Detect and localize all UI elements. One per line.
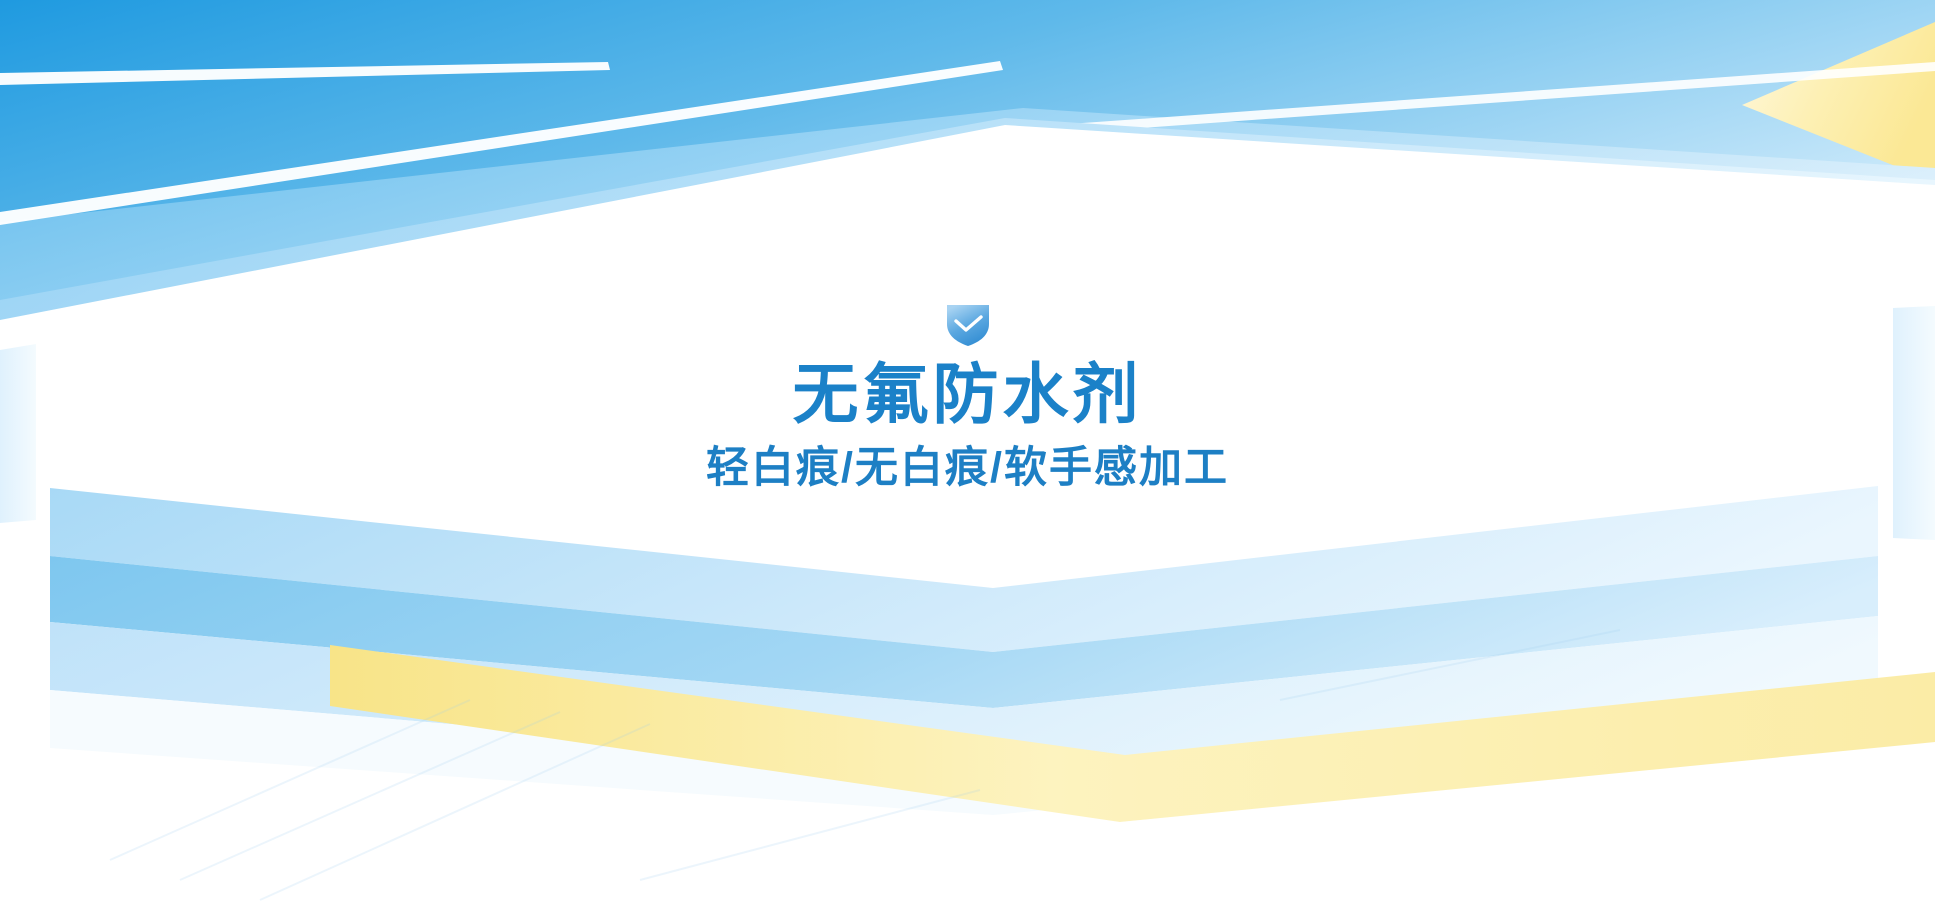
shield-check-icon bbox=[944, 302, 992, 348]
shape-right-pale-strip bbox=[1893, 306, 1935, 540]
shield-body bbox=[947, 305, 989, 346]
page-subtitle: 轻白痕/无白痕/软手感加工 bbox=[706, 444, 1229, 492]
shape-left-pale-strip bbox=[0, 344, 36, 523]
page-title: 无氟防水剂 bbox=[793, 360, 1143, 430]
promo-banner: 无氟防水剂 轻白痕/无白痕/软手感加工 bbox=[0, 0, 1935, 920]
